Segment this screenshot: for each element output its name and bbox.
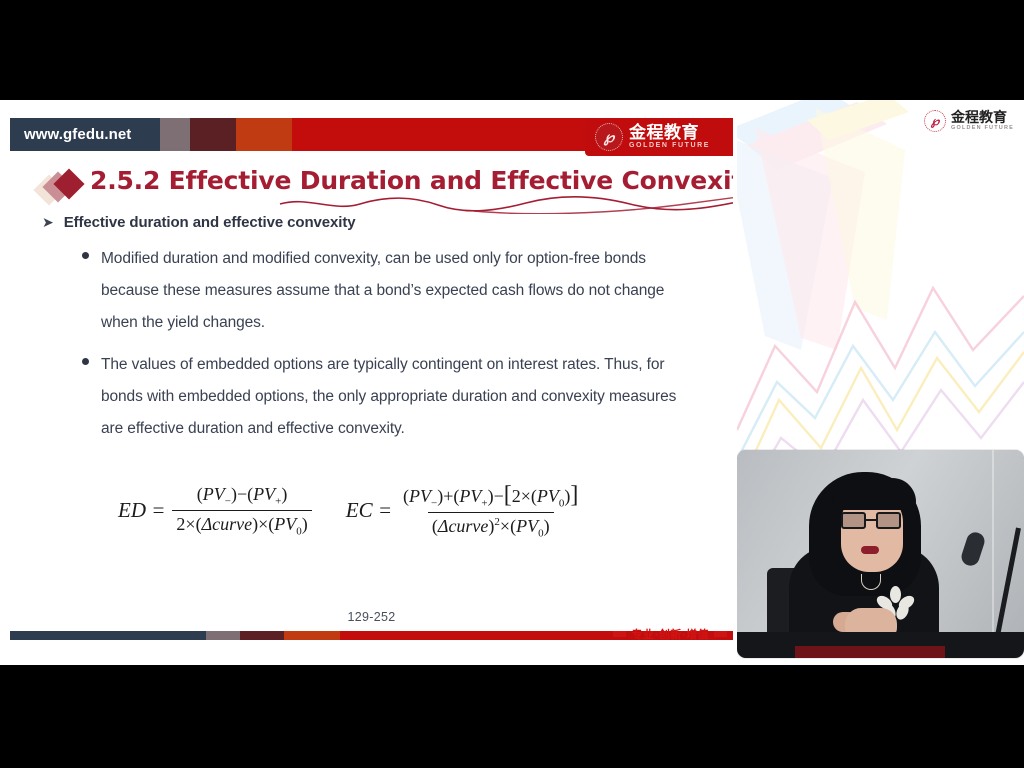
formula-ec-denominator: (Δcurve)2×(PV0) [428,512,554,540]
presentation-slide: www.gfedu.net ℘ 金程教育 GOLDEN FUTURE 2.5.2… [10,114,733,654]
bullet-level2-text: The values of embedded options are typic… [101,349,681,445]
lecture-stage: www.gfedu.net ℘ 金程教育 GOLDEN FUTURE 2.5.2… [0,100,1024,665]
formula-ec-numerator: (PV−)+(PV+)−[2×(PV0)] [399,482,582,512]
formula-ed-fraction: (PV−)−(PV+) 2×(Δcurve)×(PV0) [172,484,311,537]
tagline-text: 专业·创新·增值 [631,626,709,642]
brand-name-en: GOLDEN FUTURE [629,142,710,149]
brand-name-cn: 金程教育 [629,125,710,143]
footer-segment-1 [10,631,206,640]
slide-title-row: 2.5.2 Effective Duration and Effective C… [38,166,728,212]
page-title: 2.5.2 Effective Duration and Effective C… [90,166,733,195]
dot-bullet-icon [82,252,89,259]
brand-tagline: 专业·创新·增值 [613,626,727,642]
formula-ed-lhs: ED = [118,498,165,523]
formula-ed-numerator: (PV−)−(PV+) [193,484,292,510]
page-number: 129-252 [10,610,733,624]
bullet-level1-text: Effective duration and effective convexi… [64,214,356,231]
brand-name-en: GOLDEN FUTURE [951,125,1014,131]
bullet-level2: Modified duration and modified convexity… [10,243,733,339]
header-segment-3 [190,118,236,151]
lecturer-video-feed[interactable] [737,450,1024,658]
formula-row: ED = (PV−)−(PV+) 2×(Δcurve)×(PV0) EC = [10,482,733,539]
bullet-level2: The values of embedded options are typic… [10,349,733,445]
letterbox-top [0,0,1024,100]
tagline-dash-right-icon [714,631,727,637]
desk-front-panel [795,646,945,658]
dot-bullet-icon [82,358,89,365]
header-segment-2 [160,118,190,151]
footer-segment-4 [284,631,340,640]
bullet-level1: ➤ Effective duration and effective conve… [10,214,733,231]
slide-body: ➤ Effective duration and effective conve… [10,214,733,455]
brand-logo-header: ℘ 金程教育 GOLDEN FUTURE [585,118,733,156]
right-decoration-panel: ℘ 金程教育 GOLDEN FUTURE [737,100,1024,665]
brand-seal-icon: ℘ [924,110,946,132]
title-underline-squiggle-icon [278,194,733,214]
brand-seal-icon: ℘ [595,123,623,151]
lecturer-glasses [841,512,901,529]
arrow-bullet-icon: ➤ [42,215,54,229]
bullet-level2-text: Modified duration and modified convexity… [101,243,681,339]
brand-logo-corner: ℘ 金程教育 GOLDEN FUTURE [924,110,1014,132]
formula-ec-fraction: (PV−)+(PV+)−[2×(PV0)] (Δcurve)2×(PV0) [399,482,582,539]
formula-ed-denominator: 2×(Δcurve)×(PV0) [172,510,311,538]
formula-effective-duration: ED = (PV−)−(PV+) 2×(Δcurve)×(PV0) [118,484,312,537]
brand-name-cn: 金程教育 [951,111,1014,126]
lecturer-bangs [832,478,916,510]
formula-ec-lhs: EC = [346,498,392,523]
lecturer-lips [861,546,879,554]
tagline-dash-left-icon [613,631,626,637]
header-segment-4 [236,118,292,151]
formula-effective-convexity: EC = (PV−)+(PV+)−[2×(PV0)] (Δcurve)2×(PV… [346,482,583,539]
letterbox-bottom [0,665,1024,768]
diamond-bullet-icon [38,172,94,204]
video-player-screen: www.gfedu.net ℘ 金程教育 GOLDEN FUTURE 2.5.2… [0,0,1024,768]
site-url: www.gfedu.net [10,118,143,151]
footer-segment-2 [206,631,240,640]
footer-segment-3 [240,631,284,640]
wall-edge [992,450,994,658]
